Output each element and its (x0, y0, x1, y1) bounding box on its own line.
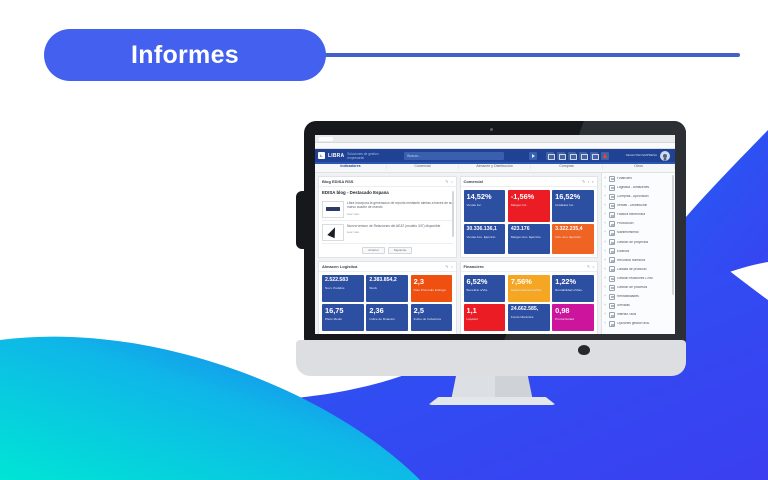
kpi-value: 30.336.136,1 (467, 227, 503, 232)
panel-almacen: Almacen Logistica ✎ • 2.522.583Num. Pedi… (318, 261, 457, 334)
monitor-logo (578, 345, 590, 355)
kpi-tile[interactable]: -1,56%Margen Inc. (508, 190, 550, 222)
panel-comercial-title: Comercial (464, 179, 483, 184)
kpi-tile[interactable]: 1,1Liquidez (464, 304, 506, 331)
sidebar-item-calidad-de-producto[interactable]: +Calidad de producto (602, 265, 675, 274)
more-icon[interactable]: • (451, 265, 452, 269)
expand-icon[interactable]: + (604, 241, 607, 244)
kpi-label: Beneficio s/Vta. (467, 288, 503, 292)
kpi-label: Plazo Medio (325, 317, 361, 321)
kpi-value: 3.322.235,4 (555, 227, 591, 232)
expand-icon[interactable]: + (604, 322, 607, 325)
kpi-value: 16,52% (555, 193, 591, 200)
browser-tab[interactable] (319, 137, 333, 141)
kpi-value: 2.383.854,2 (369, 278, 405, 283)
truck-icon (609, 185, 615, 191)
expand-icon[interactable]: + (604, 213, 607, 216)
kpi-value: 423.176 (511, 227, 547, 232)
sales-icon (609, 203, 615, 209)
tab-almacen[interactable]: Almacen y Distribucion (459, 165, 531, 169)
sidebar-item-label: Gestion relaciones CRM (617, 277, 653, 280)
sidebar-item-financiero[interactable]: +Financiero (602, 174, 675, 183)
panel-blog: Blog EDISA RSS ✎ • EDISA blog - Destacad… (318, 176, 457, 258)
sidebar-item-label: Logistica - Almacenes (617, 186, 649, 189)
kpi-label: Liquidez (467, 317, 503, 321)
user-name: SELECTED EMPRESA (626, 154, 657, 158)
panel-financiero: Financiero ✎ • 6,52%Beneficio s/Vta.7,56… (460, 261, 599, 334)
kpi-tile[interactable]: 7,56%Gastos Estructura/Vta. (508, 275, 550, 302)
crm-icon (609, 276, 615, 282)
kpi-tile[interactable]: 2,36Indice de Rotacion (366, 304, 408, 331)
panel-blog-body: EDISA blog - Destacado Espana Libra inco… (319, 187, 456, 257)
app-logo-text: LIBRA (328, 153, 344, 159)
edit-icon[interactable]: ✎ (445, 180, 448, 184)
sidebar-item-recursos-humanos[interactable]: +Recursos humanos (602, 256, 675, 265)
expand-icon[interactable]: + (604, 295, 607, 298)
vertical-scrollbar[interactable] (672, 175, 674, 295)
monitor-screen: L LIBRA Soluciones de gestion empresaria… (315, 135, 675, 334)
sidebar-item-label: Calidad de producto (617, 268, 647, 271)
shield-icon (609, 266, 615, 272)
expand-icon[interactable]: + (604, 177, 607, 180)
kpi-label: Num. Pedidos (325, 286, 361, 290)
header-rule (300, 53, 740, 57)
wrench-icon (609, 230, 615, 236)
kpi-value: 16,75 (325, 307, 361, 314)
app-toolbar-icons (546, 152, 609, 160)
kpi-value: 2,5 (414, 307, 450, 314)
expand-icon[interactable]: + (604, 286, 607, 289)
kpi-tile[interactable]: 1,22%Rentabilidad s/Vtas. (552, 275, 594, 302)
expand-icon[interactable]: + (604, 313, 607, 316)
sidebar-item-opciones-gestion-ava[interactable]: +Opciones gestion ava. (602, 320, 675, 329)
kpi-label: Stock (369, 286, 405, 290)
sidebar-item-label: Servidas (617, 304, 630, 307)
dashboard-row-top: Blog EDISA RSS ✎ • EDISA blog - Destacad… (318, 176, 598, 258)
invoice-icon (609, 212, 615, 218)
kpi-label: Ventas Inc. (467, 203, 503, 207)
kpi-label: Indice de Rotacion (369, 317, 405, 321)
sidebar-item-gestion-de-proyectos[interactable]: +Gestion de proyectos (602, 238, 675, 247)
kpi-tile[interactable]: 3.322.235,4Uds. Acu. Ejercicio (552, 224, 594, 254)
search-input[interactable]: Buscar... (404, 152, 504, 160)
kpi-value: 1,22% (555, 278, 591, 285)
expand-icon[interactable]: + (604, 268, 607, 271)
kpi-label: Unidades Inc. (555, 203, 591, 207)
sidebar-item-interfaz-tactil[interactable]: +Interfaz Tactil (602, 310, 675, 319)
sidebar-item-label: Recursos humanos (617, 259, 645, 262)
project-icon (609, 239, 615, 245)
list-item[interactable]: Libra incorpora la generacion de reports… (322, 198, 453, 221)
user-menu[interactable]: SELECTED EMPRESA (626, 151, 672, 161)
sidebar-item-label: Factura electronica (617, 213, 645, 216)
kpi-label: Productividad (555, 317, 591, 321)
factory-icon (609, 221, 615, 227)
more-icon[interactable]: • (451, 180, 452, 184)
more-icon[interactable]: • (593, 265, 594, 269)
user-avatar-icon[interactable] (660, 151, 670, 161)
sidebar-item-ventas-distribucion[interactable]: +Ventas - Distribucion (602, 201, 675, 210)
browser-tab-strip[interactable] (315, 135, 675, 143)
pen-signature-thumb (322, 224, 344, 241)
dashboard-row-bottom: Almacen Logistica ✎ • 2.522.583Num. Pedi… (318, 261, 598, 334)
sidebar-item-label: Mantenimiento (617, 231, 639, 234)
tools-icon (609, 303, 615, 309)
webcam-icon (490, 128, 493, 131)
sidebar-item-label: Compras - Aprovision. (617, 195, 649, 198)
app-top-bar: L LIBRA Soluciones de gestion empresaria… (315, 149, 675, 162)
sidebar-item-label: Gestion de procesos (617, 286, 647, 289)
panel-comercial-body: 14,52%Ventas Inc.-1,56%Margen Inc.16,52%… (461, 187, 598, 257)
app-subtitle: Soluciones de gestion empresarial (347, 152, 395, 160)
kpi-grid-comercial: 14,52%Ventas Inc.-1,56%Margen Inc.16,52%… (464, 190, 595, 254)
kpi-value: 14,52% (467, 193, 503, 200)
kpi-tile[interactable]: 2.522.583Num. Pedidos (322, 275, 364, 302)
sidebar-item-factura-electronica[interactable]: +Factura electronica (602, 210, 675, 219)
blog-headline: EDISA blog - Destacado Espana (322, 190, 453, 195)
monitor-chin (296, 340, 686, 376)
kpi-tile[interactable]: 423.176Margen Acu. Ejercicio (508, 224, 550, 254)
page-title: Informes (131, 41, 239, 70)
edit-icon[interactable]: ✎ (445, 265, 448, 269)
kpi-tile[interactable]: 6,52%Beneficio s/Vta. (464, 275, 506, 302)
more-icon[interactable]: • (588, 180, 589, 184)
people-icon (609, 257, 615, 263)
sidebar-item-label: Interfaz Tactil (617, 313, 636, 316)
sidebar-item-label: Ventas - Distribucion (617, 204, 647, 207)
panel-blog-title: Blog EDISA RSS (322, 179, 353, 184)
building-icon (609, 248, 615, 254)
kpi-label: Dias Promedio Entrega (414, 288, 450, 292)
kpi-tile[interactable]: 16,52%Unidades Inc. (552, 190, 594, 222)
sidebar-item-label: Produccion (617, 222, 634, 225)
expand-icon[interactable]: + (604, 186, 607, 189)
kpi-tile[interactable]: 2,5Indice de Cobertura (411, 304, 453, 331)
gear-icon (609, 321, 615, 327)
list-item[interactable]: Nueva version de Relaciones del AEAT (mo… (322, 221, 453, 244)
kpi-value: 0,98 (555, 307, 591, 314)
panel-almacen-header: Almacen Logistica ✎ • (319, 262, 456, 272)
sidebar-item-label: Rentabilidades (617, 295, 639, 298)
kpi-label: Rentabilidad s/Vtas. (555, 288, 591, 292)
page-title-pill: Informes (44, 29, 326, 81)
kpi-value: 1,1 (467, 307, 503, 314)
calendar-icon[interactable] (590, 152, 598, 160)
sidebar-menu-list: +Financiero+Logistica - Almacenes+Compra… (602, 173, 675, 334)
kpi-value: 2,36 (369, 307, 405, 314)
grid-icon[interactable] (557, 152, 565, 160)
right-sidebar: +Financiero+Logistica - Almacenes+Compra… (601, 173, 675, 334)
sidebar-item-label: Opciones gestion ava. (617, 322, 650, 325)
kpi-grid-almacen: 2.522.583Num. Pedidos2.383.854,2Stock2,3… (322, 275, 453, 331)
blog-next-button[interactable]: Siguiente (388, 247, 413, 254)
panel-almacen-tools: ✎ • (445, 265, 452, 269)
tab-otros[interactable]: Otros (603, 165, 675, 169)
monitor-icon[interactable] (546, 152, 554, 160)
panel-financiero-header: Financiero ✎ • (461, 262, 598, 272)
play-icon[interactable] (529, 152, 537, 160)
kpi-label: Uds. Acu. Ejercicio (555, 235, 591, 239)
panel-blog-header: Blog EDISA RSS ✎ • (319, 177, 456, 187)
kpi-tile[interactable]: 0,98Productividad (552, 304, 594, 331)
blog-item-text-wrap: Libra incorpora la generacion de reports… (347, 201, 453, 218)
sidebar-item-mantenimiento[interactable]: +Mantenimiento (602, 229, 675, 238)
panel-financiero-tools: ✎ • (587, 265, 594, 269)
document-icon[interactable] (568, 152, 576, 160)
edisa-logo-thumb (322, 201, 344, 218)
sidebar-item-gestion-relaciones-crm[interactable]: +Gestion relaciones CRM (602, 274, 675, 283)
blog-item-more[interactable]: Leer mas... (347, 212, 453, 216)
finance-icon (609, 176, 615, 182)
alert-icon[interactable] (601, 152, 609, 160)
window-icon[interactable] (579, 152, 587, 160)
kpi-label: Ventas Acu. Ejercicio (467, 235, 503, 239)
expand-icon[interactable]: + (604, 204, 607, 207)
cart-icon (609, 194, 615, 200)
kpi-tile[interactable]: 24.662.585,Fondo Maniobra (508, 304, 550, 331)
close-icon[interactable]: × (592, 180, 594, 184)
search-placeholder: Buscar... (407, 154, 420, 158)
monitor-stand-foot (428, 397, 556, 405)
expand-icon[interactable]: + (604, 304, 607, 307)
expand-icon[interactable]: + (604, 222, 607, 225)
panel-financiero-title: Financiero (464, 264, 484, 269)
kpi-value: 6,52% (467, 278, 503, 285)
vertical-scrollbar[interactable] (452, 191, 454, 237)
app-logo-icon: L (318, 152, 325, 159)
kpi-label: Margen Acu. Ejercicio (511, 235, 547, 239)
blog-item-text: Nueva version de Relaciones del AEAT (mo… (347, 224, 453, 229)
kpi-tile[interactable]: 30.336.136,1Ventas Acu. Ejercicio (464, 224, 506, 254)
page-header: Informes (0, 0, 768, 100)
kpi-label: Indice de Cobertura (414, 317, 450, 321)
kpi-value: 2.522.583 (325, 278, 361, 283)
sidebar-item-edificios[interactable]: +Edificios (602, 247, 675, 256)
monitor-side-edge (296, 191, 308, 249)
sidebar-item-produccion[interactable]: +Produccion (602, 219, 675, 228)
panel-comercial-tools: ✎ • × (582, 180, 594, 184)
expand-icon[interactable]: + (604, 195, 607, 198)
kpi-value: -1,56% (511, 193, 547, 200)
panel-comercial-header: Comercial ✎ • × (461, 177, 598, 187)
app-logo-initial: L (320, 154, 322, 158)
flow-icon (609, 285, 615, 291)
kpi-tile[interactable]: 2.383.854,2Stock (366, 275, 408, 302)
app-workspace: Blog EDISA RSS ✎ • EDISA blog - Destacad… (315, 173, 675, 334)
sidebar-item-label: Edificios (617, 250, 629, 253)
wand-icon (609, 312, 615, 318)
kpi-value: 24.662.585, (511, 307, 547, 312)
sidebar-item-servidas[interactable]: +Servidas (602, 301, 675, 310)
panel-comercial: Comercial ✎ • × 14,52%Ventas Inc.-1,56%M… (460, 176, 599, 258)
kpi-label: Fondo Maniobra (511, 315, 547, 319)
sidebar-item-label: Gestion de proyectos (617, 241, 648, 244)
kpi-tile[interactable]: 14,52%Ventas Inc. (464, 190, 506, 222)
sidebar-item-label: Financiero (617, 177, 632, 180)
panel-almacen-body: 2.522.583Num. Pedidos2.383.854,2Stock2,3… (319, 272, 456, 334)
edit-icon[interactable]: ✎ (582, 180, 585, 184)
expand-icon[interactable]: + (604, 277, 607, 280)
kpi-grid-financiero: 6,52%Beneficio s/Vta.7,56%Gastos Estruct… (464, 275, 595, 331)
expand-icon[interactable]: + (604, 250, 607, 253)
desktop-monitor: L LIBRA Soluciones de gestion empresaria… (296, 121, 686, 381)
blog-item-text-wrap: Nueva version de Relaciones del AEAT (mo… (347, 224, 453, 241)
kpi-tile[interactable]: 2,3Dias Promedio Entrega (411, 275, 453, 302)
kpi-label: Gastos Estructura/Vta. (511, 288, 547, 292)
chart-icon (609, 294, 615, 300)
sidebar-item-compras-aprovision[interactable]: +Compras - Aprovision. (602, 192, 675, 201)
expand-icon[interactable]: + (604, 231, 607, 234)
kpi-value: 2,3 (414, 278, 450, 285)
kpi-value: 7,56% (511, 278, 547, 285)
sidebar-item-gestion-de-procesos[interactable]: +Gestion de procesos (602, 283, 675, 292)
blog-item-text: Libra incorpora la generacion de reports… (347, 201, 453, 211)
blog-pagination: Anterior Siguiente (322, 247, 453, 254)
dashboard-canvas: Blog EDISA RSS ✎ • EDISA blog - Destacad… (315, 173, 601, 334)
panel-blog-tools: ✎ • (445, 180, 452, 184)
edit-icon[interactable]: ✎ (587, 265, 590, 269)
kpi-label: Margen Inc. (511, 203, 547, 207)
panel-financiero-body: 6,52%Beneficio s/Vta.7,56%Gastos Estruct… (461, 272, 598, 334)
sidebar-item-logistica-almacenes[interactable]: +Logistica - Almacenes (602, 183, 675, 192)
kpi-tile[interactable]: 16,75Plazo Medio (322, 304, 364, 331)
tab-comercial[interactable]: Comercial (387, 165, 459, 169)
tab-indicadores[interactable]: Indicadores (315, 165, 387, 169)
blog-prev-button[interactable]: Anterior (362, 247, 385, 254)
expand-icon[interactable]: + (604, 259, 607, 262)
blog-item-more[interactable]: Leer mas... (347, 230, 453, 234)
tab-compras[interactable]: Compras (531, 165, 603, 169)
panel-almacen-title: Almacen Logistica (322, 264, 357, 269)
sidebar-item-rentabilidades[interactable]: +Rentabilidades (602, 292, 675, 301)
